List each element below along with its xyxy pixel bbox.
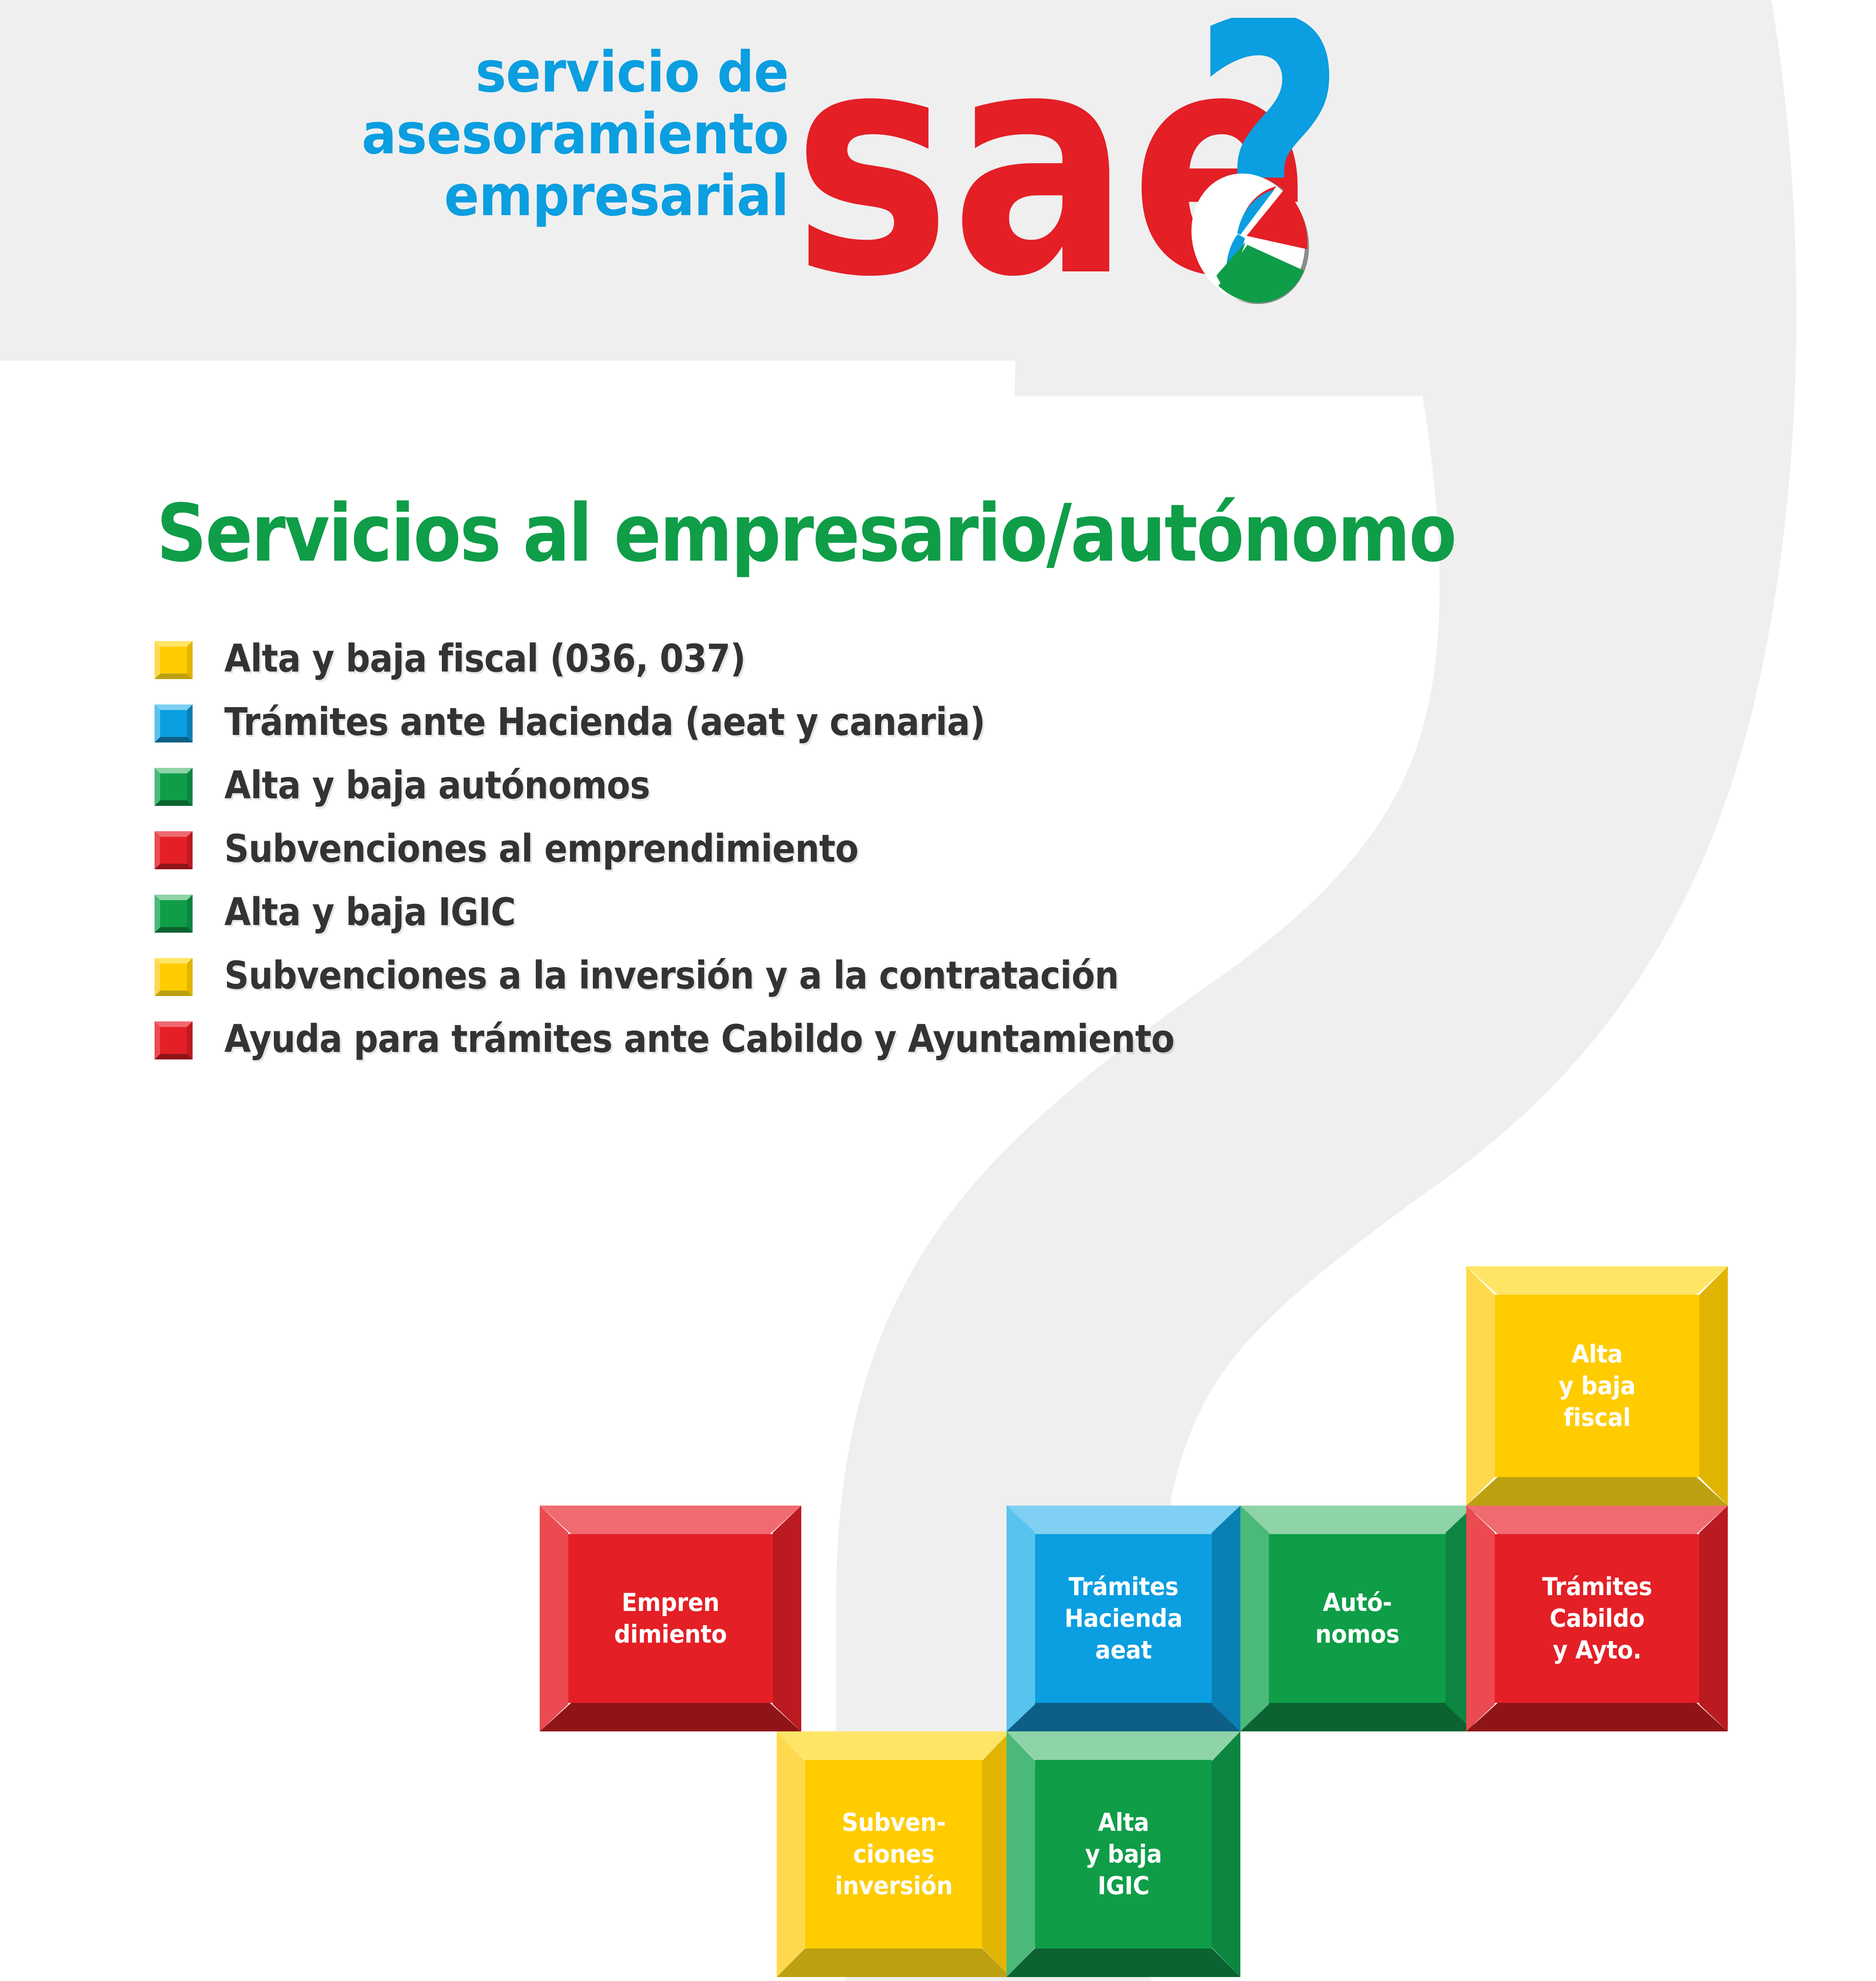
bullet-chip-yellow-icon [155, 958, 193, 996]
services-list: Alta y baja fiscal (036, 037) Trámites a… [155, 639, 1280, 1082]
sae-logo-tagline-line1: servicio de [315, 42, 789, 103]
list-item-label: Trámites ante Hacienda (aeat y canaria) [224, 702, 985, 742]
bullet-chip-blue-icon [155, 704, 193, 742]
list-item-label: Alta y baja IGIC [224, 892, 516, 932]
bullet-chip-red-icon [155, 1021, 193, 1059]
list-item: Alta y baja fiscal (036, 037) [155, 639, 1280, 702]
block-label: Empren dimiento [614, 1587, 727, 1650]
list-item-label: Subvenciones a la inversión y a la contr… [224, 956, 1119, 995]
block-emprendimiento[interactable]: Empren dimiento [540, 1506, 801, 1731]
list-item: Alta y baja autónomos [155, 765, 1280, 829]
list-item-label: Ayuda para trámites ante Cabildo y Ayunt… [224, 1019, 1174, 1059]
block-label: Alta y baja fiscal [1559, 1338, 1635, 1433]
list-item: Alta y baja IGIC [155, 892, 1280, 956]
block-label: Trámites Hacienda aeat [1064, 1571, 1183, 1666]
block-label: Autó- nomos [1315, 1587, 1399, 1650]
list-item: Trámites ante Hacienda (aeat y canaria) [155, 702, 1280, 765]
list-item: Subvenciones al emprendimiento [155, 829, 1280, 892]
block-autonomos[interactable]: Autó- nomos [1240, 1506, 1474, 1731]
list-item-label: Alta y baja autónomos [224, 765, 650, 805]
sae-logo-tagline: servicio de asesoramiento empresarial [315, 42, 789, 227]
list-item-label: Subvenciones al emprendimiento [224, 829, 858, 868]
bullet-chip-green-icon [155, 895, 193, 933]
bullet-chip-yellow-icon [155, 641, 193, 679]
block-alta-baja-igic[interactable]: Alta y baja IGIC [1007, 1731, 1240, 1977]
list-item: Subvenciones a la inversión y a la contr… [155, 956, 1280, 1019]
sae-logo-tagline-line3: empresarial [315, 165, 789, 227]
bullet-chip-green-icon [155, 768, 193, 806]
block-alta-baja-fiscal[interactable]: Alta y baja fiscal [1466, 1266, 1728, 1506]
block-label: Subven- ciones inversión [835, 1807, 953, 1902]
list-item: Ayuda para trámites ante Cabildo y Ayunt… [155, 1019, 1280, 1082]
page-title: Servicios al empresario/autónomo [157, 487, 1456, 580]
sae-logo-tagline-line2: asesoramiento [315, 103, 789, 165]
block-subvenciones-inversion[interactable]: Subven- ciones inversión [777, 1731, 1011, 1977]
block-tramites-hacienda[interactable]: Trámites Hacienda aeat [1007, 1506, 1240, 1731]
block-label: Trámites Cabildo y Ayto. [1542, 1571, 1652, 1666]
bullet-chip-red-icon [155, 831, 193, 869]
list-item-label: Alta y baja fiscal (036, 037) [224, 639, 745, 678]
sae-wordmark-icon: sae ? [793, 18, 1506, 374]
block-tramites-cabildo[interactable]: Trámites Cabildo y Ayto. [1466, 1506, 1728, 1731]
block-label: Alta y baja IGIC [1085, 1807, 1162, 1902]
